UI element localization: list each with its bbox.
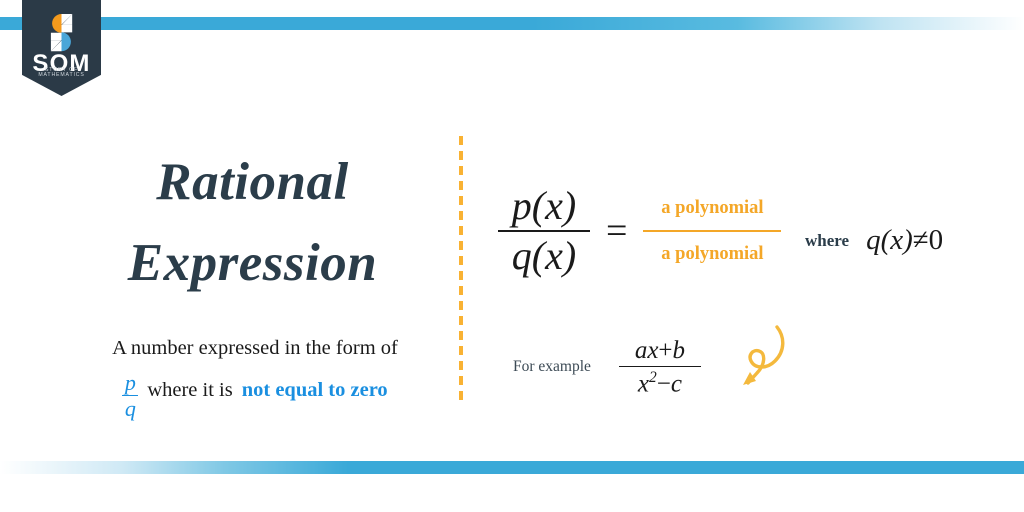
example-den-exponent: 2 — [649, 369, 657, 386]
fraction-p-over-q: p q — [122, 372, 138, 420]
fraction-example: ax+b x2−c — [619, 338, 701, 396]
equals-sign: = — [606, 209, 627, 253]
fraction-denominator: x2−c — [638, 370, 682, 396]
example-den-operator: − — [657, 370, 671, 397]
condition-rhs: 0 — [929, 224, 944, 256]
fraction-denominator: q — [125, 398, 136, 420]
definition-line-1: A number expressed in the form of — [60, 333, 450, 365]
main-formula: p(x) q(x) = a polynomial a polynomial — [498, 186, 781, 276]
page-title-line-1: Rational — [60, 142, 445, 223]
top-accent-bar — [0, 17, 1024, 30]
fraction-numerator: a polynomial — [661, 199, 763, 218]
example-label: For example — [513, 358, 591, 376]
bottom-accent-bar — [0, 461, 1024, 474]
example-num-term-b: b — [673, 337, 686, 364]
condition-operator: ≠ — [913, 224, 929, 256]
curly-arrow-icon — [731, 323, 793, 389]
page-title-line-2: Expression — [60, 223, 445, 304]
fraction-polynomial-over-polynomial: a polynomial a polynomial — [643, 199, 781, 264]
som-logo-shield: SOM STORY OF MATHEMATICS — [22, 0, 101, 96]
example-statement: For example ax+b x2−c — [513, 338, 701, 396]
condition-expression: q(x)≠0 — [866, 224, 943, 257]
fraction-numerator: ax+b — [635, 338, 685, 363]
condition-statement: where q(x)≠0 — [805, 224, 943, 257]
fraction-denominator: q(x) — [512, 236, 576, 276]
som-s-monogram-icon — [41, 12, 82, 53]
definition-line-2: p q where it is not equal to zero — [60, 367, 450, 415]
example-den-base: x — [638, 370, 649, 397]
fraction-bar — [619, 366, 701, 367]
condition-label: where — [805, 231, 849, 251]
page-title: Rational Expression — [60, 142, 445, 303]
example-num-operator: + — [658, 337, 672, 364]
logo-tagline: STORY OF MATHEMATICS — [22, 68, 101, 78]
condition-lhs: q(x) — [866, 224, 913, 256]
fraction-numerator: p — [125, 372, 136, 394]
vertical-dashed-divider — [459, 136, 463, 402]
definition-text: A number expressed in the form of p q wh… — [60, 333, 450, 415]
example-den-term-c: c — [671, 370, 682, 397]
example-num-term-a: ax — [635, 337, 659, 364]
definition-highlight: not equal to zero — [242, 375, 388, 407]
definition-mid-text: where it is — [147, 375, 232, 407]
fraction-numerator: p(x) — [512, 186, 576, 226]
fraction-denominator: a polynomial — [661, 245, 763, 264]
fraction-px-over-qx: p(x) q(x) — [498, 186, 590, 276]
fraction-bar — [498, 230, 590, 232]
fraction-bar — [643, 230, 781, 232]
